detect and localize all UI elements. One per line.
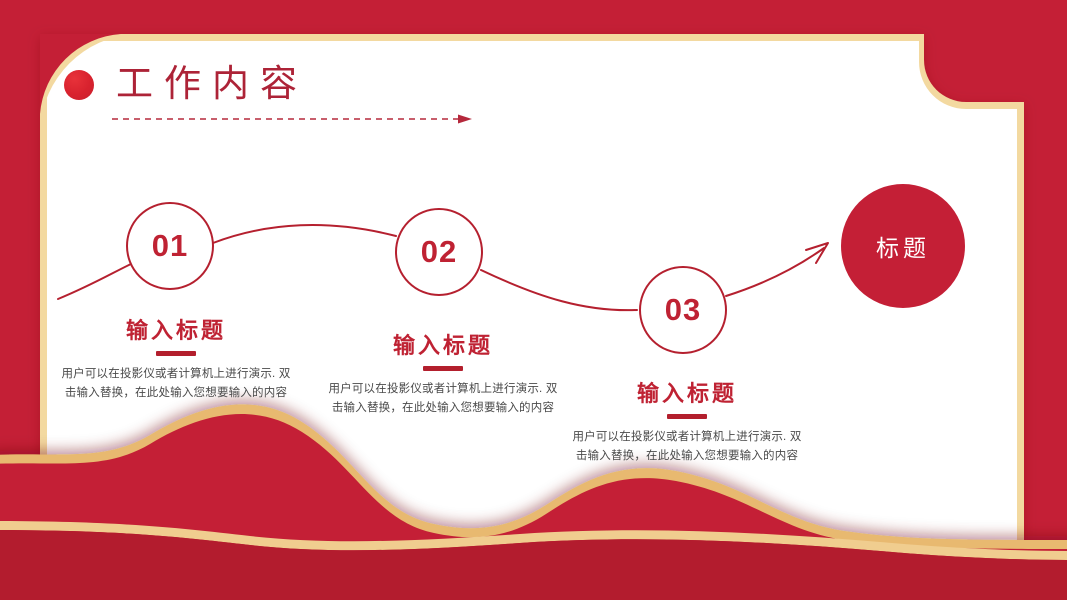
step-rule-02 <box>423 366 463 371</box>
step-block-01: 输入标题 用户可以在投影仪或者计算机上进行演示. 双击输入替换，在此处输入您想要… <box>61 318 291 403</box>
step-node-02[interactable]: 02 <box>395 208 483 296</box>
step-number-01: 01 <box>152 228 188 264</box>
step-rule-03 <box>667 414 707 419</box>
step-block-02: 输入标题 用户可以在投影仪或者计算机上进行演示. 双击输入替换，在此处输入您想要… <box>328 333 558 418</box>
red-dot-icon <box>64 70 94 100</box>
slide-canvas: 工作内容 01 02 03 标题 输入标题 用户可以在投影仪或者计算机上进行演示… <box>0 0 1067 600</box>
step-title-02: 输入标题 <box>328 333 558 359</box>
step-body-02: 用户可以在投影仪或者计算机上进行演示. 双击输入替换，在此处输入您想要输入的内容 <box>328 380 558 417</box>
page-title: 工作内容 <box>116 66 308 103</box>
step-title-03: 输入标题 <box>572 381 802 407</box>
end-node-label: 标题 <box>876 229 930 263</box>
page-title-row: 工作内容 <box>64 66 308 103</box>
step-number-02: 02 <box>421 234 457 270</box>
step-body-03: 用户可以在投影仪或者计算机上进行演示. 双击输入替换，在此处输入您想要输入的内容 <box>572 428 802 465</box>
step-block-03: 输入标题 用户可以在投影仪或者计算机上进行演示. 双击输入替换，在此处输入您想要… <box>572 381 802 466</box>
step-number-03: 03 <box>665 292 701 328</box>
step-node-03[interactable]: 03 <box>639 266 727 354</box>
step-title-01: 输入标题 <box>61 318 291 344</box>
step-node-01[interactable]: 01 <box>126 202 214 290</box>
end-node[interactable]: 标题 <box>841 184 965 308</box>
step-rule-01 <box>156 351 196 356</box>
step-body-01: 用户可以在投影仪或者计算机上进行演示. 双击输入替换，在此处输入您想要输入的内容 <box>61 365 291 402</box>
